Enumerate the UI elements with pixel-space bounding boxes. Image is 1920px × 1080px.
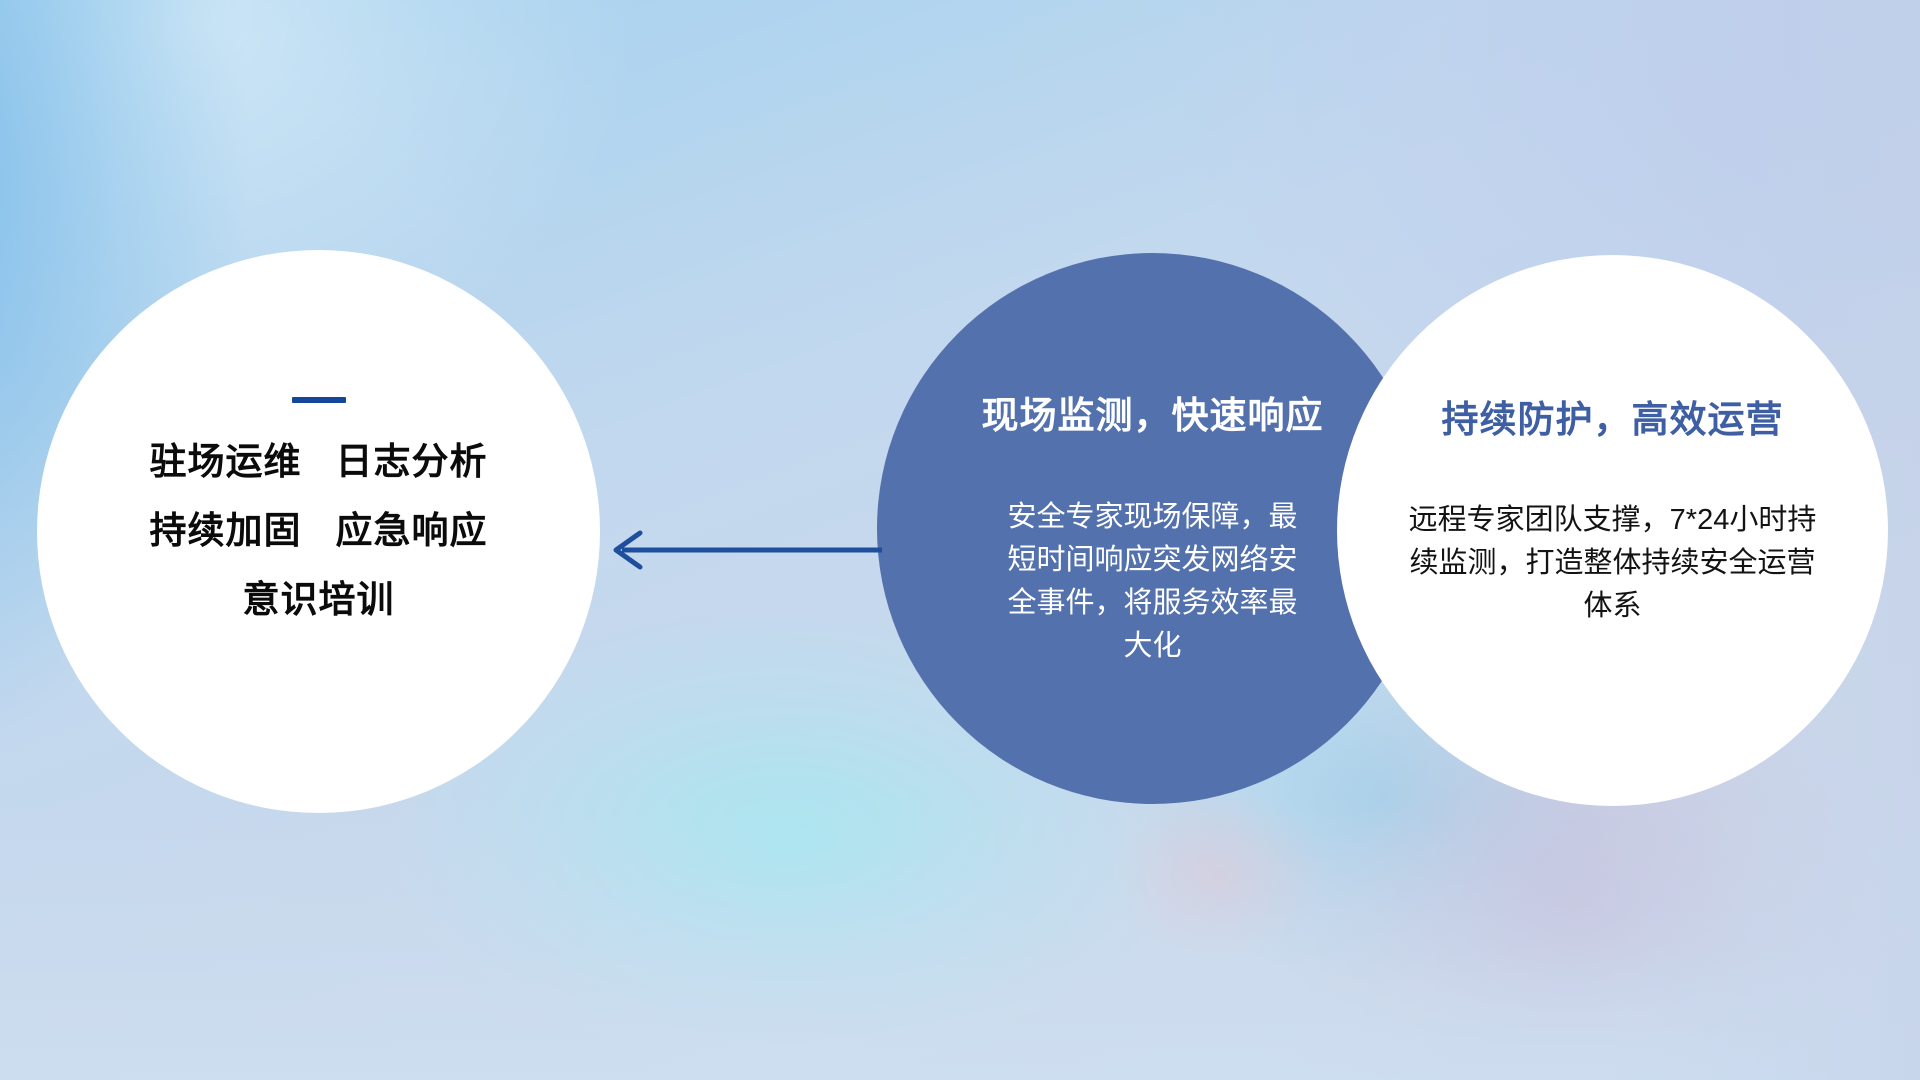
service-item: 持续加固 xyxy=(150,512,302,549)
service-capability-list: 驻场运维 日志分析 持续加固 应急响应 意识培训 xyxy=(150,443,488,618)
service-row: 驻场运维 日志分析 xyxy=(150,443,488,480)
services-circle[interactable]: 驻场运维 日志分析 持续加固 应急响应 意识培训 xyxy=(37,250,600,813)
service-item: 驻场运维 xyxy=(150,443,302,480)
service-row: 意识培训 xyxy=(243,581,395,618)
remote-title: 持续防护，高效运营 xyxy=(1442,389,1784,443)
flow-arrow-icon xyxy=(600,523,882,577)
service-row: 持续加固 应急响应 xyxy=(150,512,488,549)
onsite-body: 安全专家现场保障，最短时间响应突发网络安全事件，将服务效率最大化 xyxy=(998,496,1308,668)
remote-content: 持续防护，高效运营 远程专家团队支撑，7*24小时持续监测，打造整体持续安全运营… xyxy=(1337,255,1888,628)
service-item: 应急响应 xyxy=(336,512,488,549)
service-item: 日志分析 xyxy=(336,443,488,480)
service-item: 意识培训 xyxy=(243,581,395,618)
divider-dash-icon xyxy=(292,397,346,403)
remote-body: 远程专家团队支撑，7*24小时持续监测，打造整体持续安全运营体系 xyxy=(1403,499,1823,628)
slide-canvas: 驻场运维 日志分析 持续加固 应急响应 意识培训 现场监测，快速响应 安全专家现… xyxy=(0,0,1920,1080)
remote-operations-circle[interactable]: 持续防护，高效运营 远程专家团队支撑，7*24小时持续监测，打造整体持续安全运营… xyxy=(1337,255,1888,806)
onsite-title: 现场监测，快速响应 xyxy=(982,385,1324,439)
